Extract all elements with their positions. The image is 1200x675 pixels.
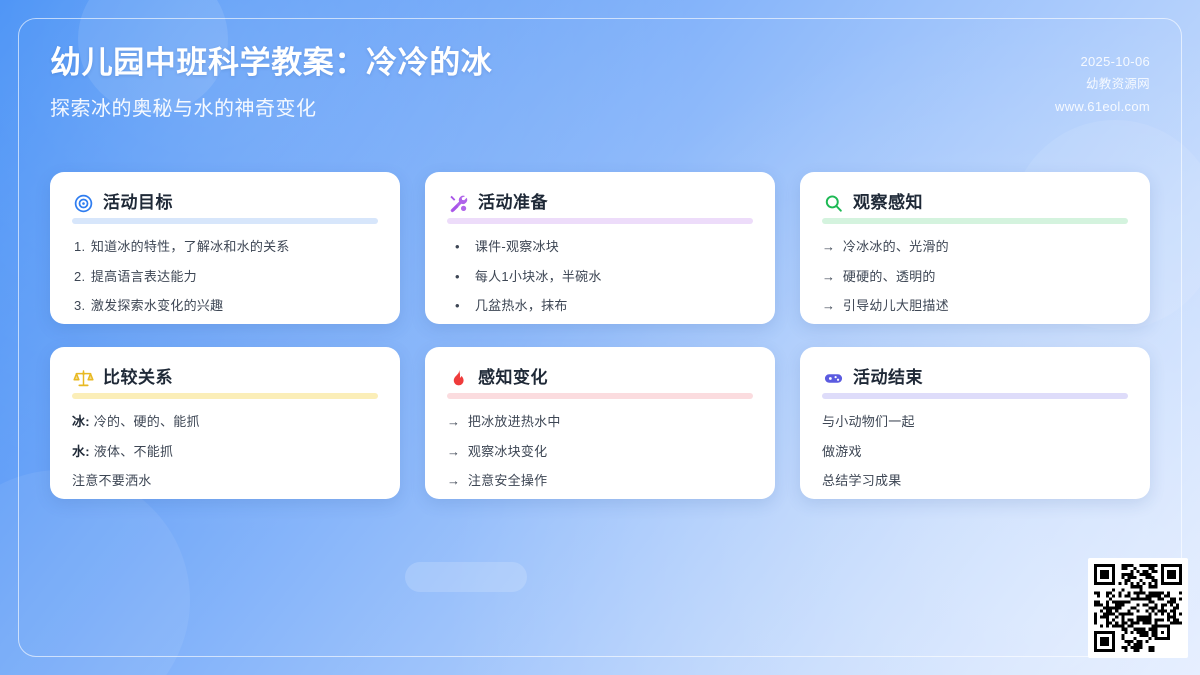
card-line: 注意不要洒水 (72, 472, 378, 490)
line-text: 总结学习成果 (822, 473, 902, 488)
card-activity-preparation[interactable]: 活动准备• 课件-观察冰块• 每人1小块冰，半碗水• 几盆热水，抹布 (425, 172, 775, 324)
card-line: 冰: 冷的、硬的、能抓 (72, 413, 378, 431)
arrow-icon: → (447, 413, 464, 431)
card-title: 活动目标 (103, 194, 173, 213)
gamepad-icon (822, 367, 844, 389)
card-body: → 把冰放进热水中→ 观察冰块变化→ 注意安全操作 (447, 413, 753, 490)
card-header: 感知变化 (447, 367, 753, 389)
card-grid: 活动目标1. 知道冰的特性，了解冰和水的关系2. 提高语言表达能力3. 激发探索… (50, 172, 1150, 499)
card-line: 水: 液体、不能抓 (72, 443, 378, 461)
card-line: 2. 提高语言表达能力 (72, 268, 378, 286)
card-body: 1. 知道冰的特性，了解冰和水的关系2. 提高语言表达能力3. 激发探索水变化的… (72, 238, 378, 315)
card-line: → 冷冰冰的、光滑的 (822, 238, 1128, 256)
line-text: 把冰放进热水中 (468, 414, 561, 429)
qr-code[interactable] (1088, 558, 1188, 658)
list-number: 2. (74, 268, 87, 286)
card-line: 3. 激发探索水变化的兴趣 (72, 297, 378, 315)
line-text: 冷冰冰的、光滑的 (843, 239, 949, 254)
slide-header: 幼儿园中班科学教案：冷冷的冰 探索冰的奥秘与水的神奇变化 2025-10-06 … (50, 42, 1150, 122)
line-text: 硬硬的、透明的 (843, 269, 936, 284)
card-line: → 引导幼儿大胆描述 (822, 297, 1128, 315)
line-text: 注意不要洒水 (72, 473, 152, 488)
target-icon (72, 192, 94, 214)
card-line: 1. 知道冰的特性，了解冰和水的关系 (72, 238, 378, 256)
line-text: 注意安全操作 (468, 473, 548, 488)
card-title: 活动结束 (853, 369, 923, 388)
decorative-pill (405, 562, 527, 592)
card-accent-rule (447, 393, 753, 399)
list-number: 3. (74, 297, 87, 315)
card-header: 活动准备 (447, 192, 753, 214)
card-observe-perceive[interactable]: 观察感知→ 冷冰冰的、光滑的→ 硬硬的、透明的→ 引导幼儿大胆描述 (800, 172, 1150, 324)
card-perceive-change[interactable]: 感知变化→ 把冰放进热水中→ 观察冰块变化→ 注意安全操作 (425, 347, 775, 499)
arrow-icon: → (447, 472, 464, 490)
line-text: 与小动物们一起 (822, 414, 915, 429)
card-header: 比较关系 (72, 367, 378, 389)
decorative-blob (0, 470, 190, 675)
line-text: 激发探索水变化的兴趣 (91, 298, 224, 313)
card-accent-rule (72, 393, 378, 399)
line-keyword: 水: (72, 444, 90, 459)
meta-site-url: www.61eol.com (1055, 95, 1150, 118)
card-body: → 冷冰冰的、光滑的→ 硬硬的、透明的→ 引导幼儿大胆描述 (822, 238, 1128, 315)
scales-icon (72, 367, 94, 389)
search-icon (822, 192, 844, 214)
list-number: 1. (74, 238, 87, 256)
card-title: 观察感知 (853, 194, 923, 213)
header-meta: 2025-10-06 幼教资源网 www.61eol.com (1055, 42, 1150, 119)
line-text: 液体、不能抓 (94, 444, 174, 459)
card-line: → 注意安全操作 (447, 472, 753, 490)
bullet-icon: • (455, 268, 471, 286)
card-title: 比较关系 (103, 369, 173, 388)
slide-root: 幼儿园中班科学教案：冷冷的冰 探索冰的奥秘与水的神奇变化 2025-10-06 … (0, 0, 1200, 675)
line-keyword: 冰: (72, 414, 90, 429)
card-line: • 每人1小块冰，半碗水 (447, 268, 753, 286)
card-compare-relation[interactable]: 比较关系冰: 冷的、硬的、能抓水: 液体、不能抓注意不要洒水 (50, 347, 400, 499)
card-header: 活动目标 (72, 192, 378, 214)
line-text: 冷的、硬的、能抓 (94, 414, 200, 429)
card-line: → 硬硬的、透明的 (822, 268, 1128, 286)
page-title: 幼儿园中班科学教案：冷冷的冰 (50, 44, 492, 83)
card-line: 与小动物们一起 (822, 413, 1128, 431)
tools-icon (447, 192, 469, 214)
bullet-icon: • (455, 238, 471, 256)
line-text: 提高语言表达能力 (91, 269, 197, 284)
card-line: 总结学习成果 (822, 472, 1128, 490)
arrow-icon: → (822, 238, 839, 256)
arrow-icon: → (822, 268, 839, 286)
title-block: 幼儿园中班科学教案：冷冷的冰 探索冰的奥秘与水的神奇变化 (50, 42, 492, 122)
card-body: 与小动物们一起做游戏总结学习成果 (822, 413, 1128, 490)
card-title: 活动准备 (478, 194, 548, 213)
card-title: 感知变化 (478, 369, 548, 388)
card-line: 做游戏 (822, 443, 1128, 461)
card-activity-end[interactable]: 活动结束与小动物们一起做游戏总结学习成果 (800, 347, 1150, 499)
card-accent-rule (447, 218, 753, 224)
line-text: 观察冰块变化 (468, 444, 548, 459)
line-text: 做游戏 (822, 444, 862, 459)
card-header: 活动结束 (822, 367, 1128, 389)
line-text: 课件-观察冰块 (475, 239, 559, 254)
card-line: • 几盆热水，抹布 (447, 297, 753, 315)
card-header: 观察感知 (822, 192, 1128, 214)
card-line: • 课件-观察冰块 (447, 238, 753, 256)
card-line: → 观察冰块变化 (447, 443, 753, 461)
card-line: → 把冰放进热水中 (447, 413, 753, 431)
card-accent-rule (822, 393, 1128, 399)
flame-icon (447, 367, 469, 389)
card-accent-rule (72, 218, 378, 224)
line-text: 每人1小块冰，半碗水 (475, 269, 602, 284)
card-activity-goals[interactable]: 活动目标1. 知道冰的特性，了解冰和水的关系2. 提高语言表达能力3. 激发探索… (50, 172, 400, 324)
card-accent-rule (822, 218, 1128, 224)
line-text: 知道冰的特性，了解冰和水的关系 (91, 239, 290, 254)
card-body: 冰: 冷的、硬的、能抓水: 液体、不能抓注意不要洒水 (72, 413, 378, 490)
arrow-icon: → (447, 443, 464, 461)
meta-site-name: 幼教资源网 (1055, 73, 1150, 95)
arrow-icon: → (822, 297, 839, 315)
meta-date: 2025-10-06 (1055, 50, 1150, 73)
bullet-icon: • (455, 297, 471, 315)
page-subtitle: 探索冰的奥秘与水的神奇变化 (50, 96, 492, 122)
line-text: 引导幼儿大胆描述 (843, 298, 949, 313)
line-text: 几盆热水，抹布 (475, 298, 568, 313)
qr-code-image (1094, 564, 1182, 652)
card-body: • 课件-观察冰块• 每人1小块冰，半碗水• 几盆热水，抹布 (447, 238, 753, 315)
